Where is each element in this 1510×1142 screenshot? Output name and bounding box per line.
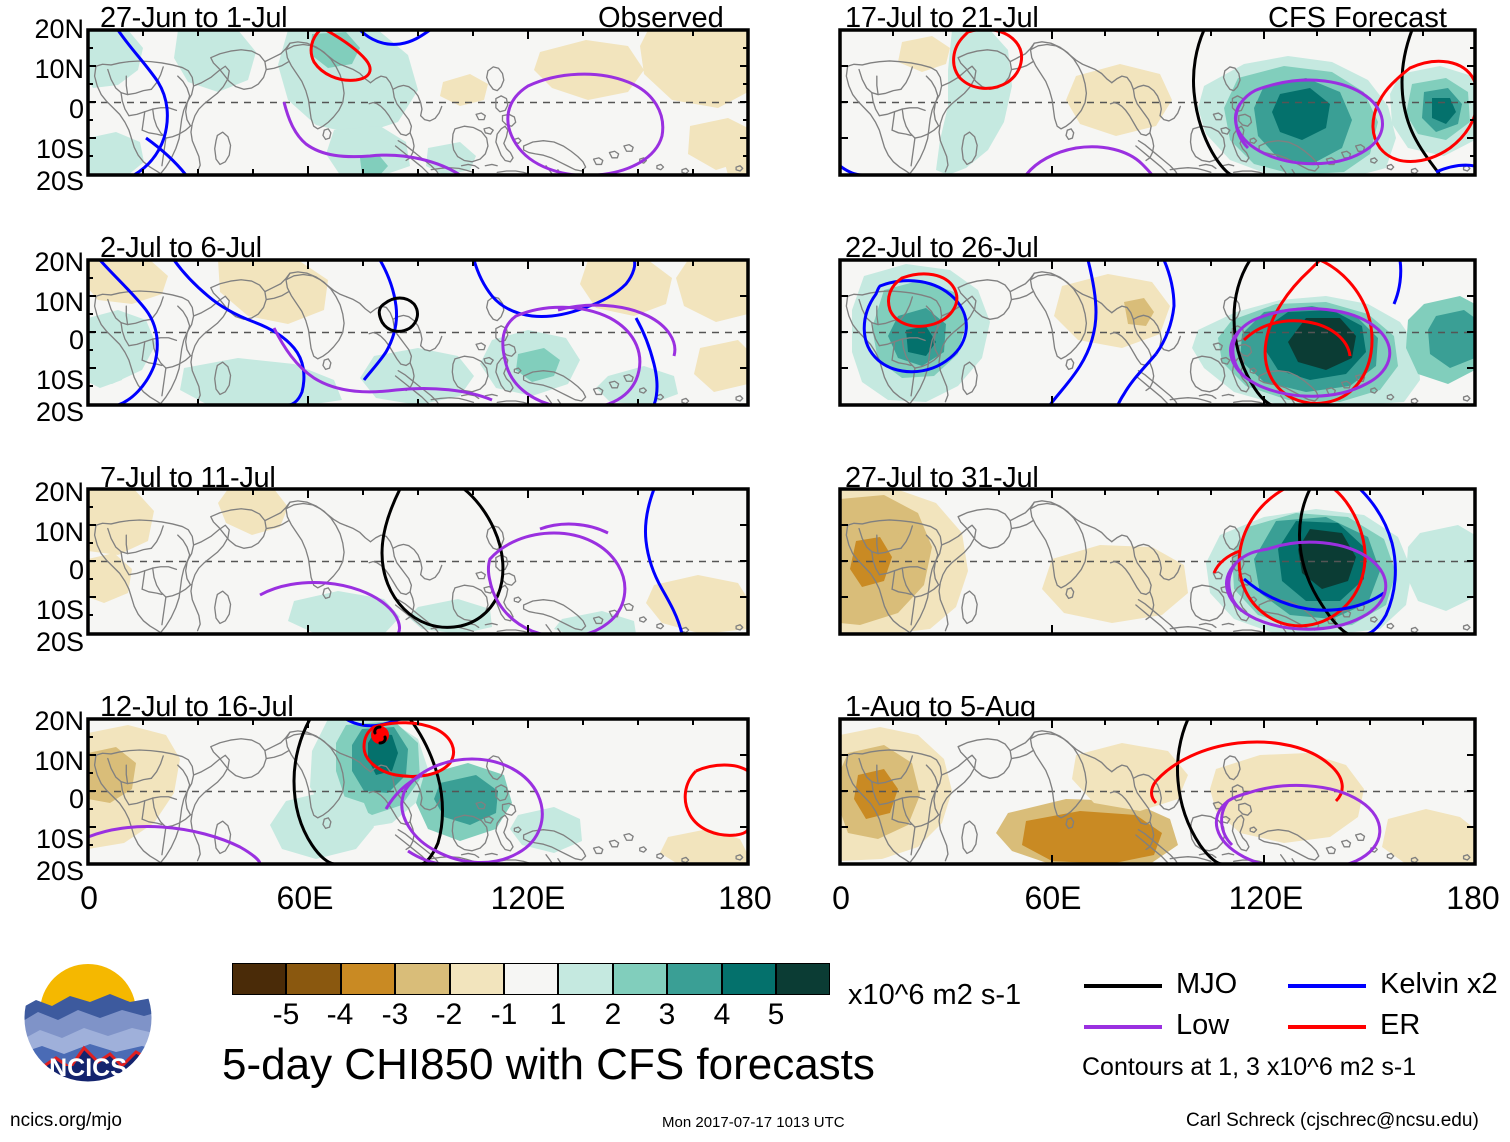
footer-link[interactable]: ncics.org/mjo <box>10 1110 122 1132</box>
legend-swatch-kelvin <box>1288 984 1366 988</box>
colorbar-tick--3: -3 <box>368 998 422 1032</box>
panel-p4 <box>88 719 748 864</box>
colorbar-tick--4: -4 <box>313 998 367 1032</box>
colorbar-segment-6 <box>558 963 612 995</box>
legend-swatch-er <box>1288 1025 1366 1029</box>
panel-p3 <box>88 489 748 637</box>
ncics-logo: NCICS <box>18 950 178 1100</box>
colorbar-segment-2 <box>341 963 395 995</box>
colorbar-units-label: x10^6 m2 s-1 <box>848 979 1021 1012</box>
colorbar-tick-3: 3 <box>640 998 694 1032</box>
colorbar-segment-8 <box>667 963 721 995</box>
colorbar-segment-0 <box>232 963 286 995</box>
colorbar-segment-1 <box>286 963 340 995</box>
colorbar <box>232 963 830 995</box>
colorbar-segment-5 <box>504 963 558 995</box>
legend-swatch-mjo <box>1084 984 1162 988</box>
colorbar-tick-5: 5 <box>749 998 803 1032</box>
legend-label-mjo: MJO <box>1176 968 1237 1001</box>
xaxis-label-left-180: 180 <box>700 880 790 917</box>
main-title: 5-day CHI850 with CFS forecasts <box>222 1040 875 1090</box>
colorbar-segment-9 <box>722 963 776 995</box>
colorbar-segment-7 <box>613 963 667 995</box>
colorbar-tick--1: -1 <box>477 998 531 1032</box>
xaxis-label-right-0: 0 <box>820 880 862 917</box>
panel-p7 <box>840 489 1475 634</box>
xaxis-label-right-180: 180 <box>1428 880 1510 917</box>
colorbar-tick-2: 2 <box>586 998 640 1032</box>
contour-note: Contours at 1, 3 x10^6 m2 s-1 <box>1082 1053 1416 1082</box>
colorbar-tick-1: 1 <box>531 998 585 1032</box>
colorbar-tick-4: 4 <box>695 998 749 1032</box>
xaxis-label-right-120E: 120E <box>1216 880 1316 917</box>
xaxis-label-left-120E: 120E <box>478 880 578 917</box>
legend-label-er: ER <box>1380 1009 1420 1042</box>
panel-p6 <box>840 260 1475 405</box>
panel-p8 <box>840 719 1475 870</box>
panel-p1 <box>88 30 748 175</box>
colorbar-segment-10 <box>776 963 830 995</box>
colorbar-tick--2: -2 <box>422 998 476 1032</box>
xaxis-label-left-0: 0 <box>68 880 110 917</box>
colorbar-segment-4 <box>450 963 504 995</box>
panel-p5 <box>840 29 1478 175</box>
footer-timestamp: Mon 2017-07-17 1013 UTC <box>662 1114 845 1131</box>
legend-label-kelvin: Kelvin x2 <box>1380 968 1498 1001</box>
xaxis-label-right-60E: 60E <box>1008 880 1098 917</box>
colorbar-segment-3 <box>395 963 449 995</box>
panel-p2 <box>88 260 748 409</box>
panels-svg <box>0 0 1510 900</box>
xaxis-label-left-60E: 60E <box>260 880 350 917</box>
legend-swatch-low <box>1084 1025 1162 1029</box>
legend-label-low: Low <box>1176 1009 1229 1042</box>
colorbar-tick--5: -5 <box>259 998 313 1032</box>
footer-author: Carl Schreck (cjschrec@ncsu.edu) <box>1186 1110 1479 1132</box>
ncics-logo-text: NCICS <box>49 1054 127 1082</box>
